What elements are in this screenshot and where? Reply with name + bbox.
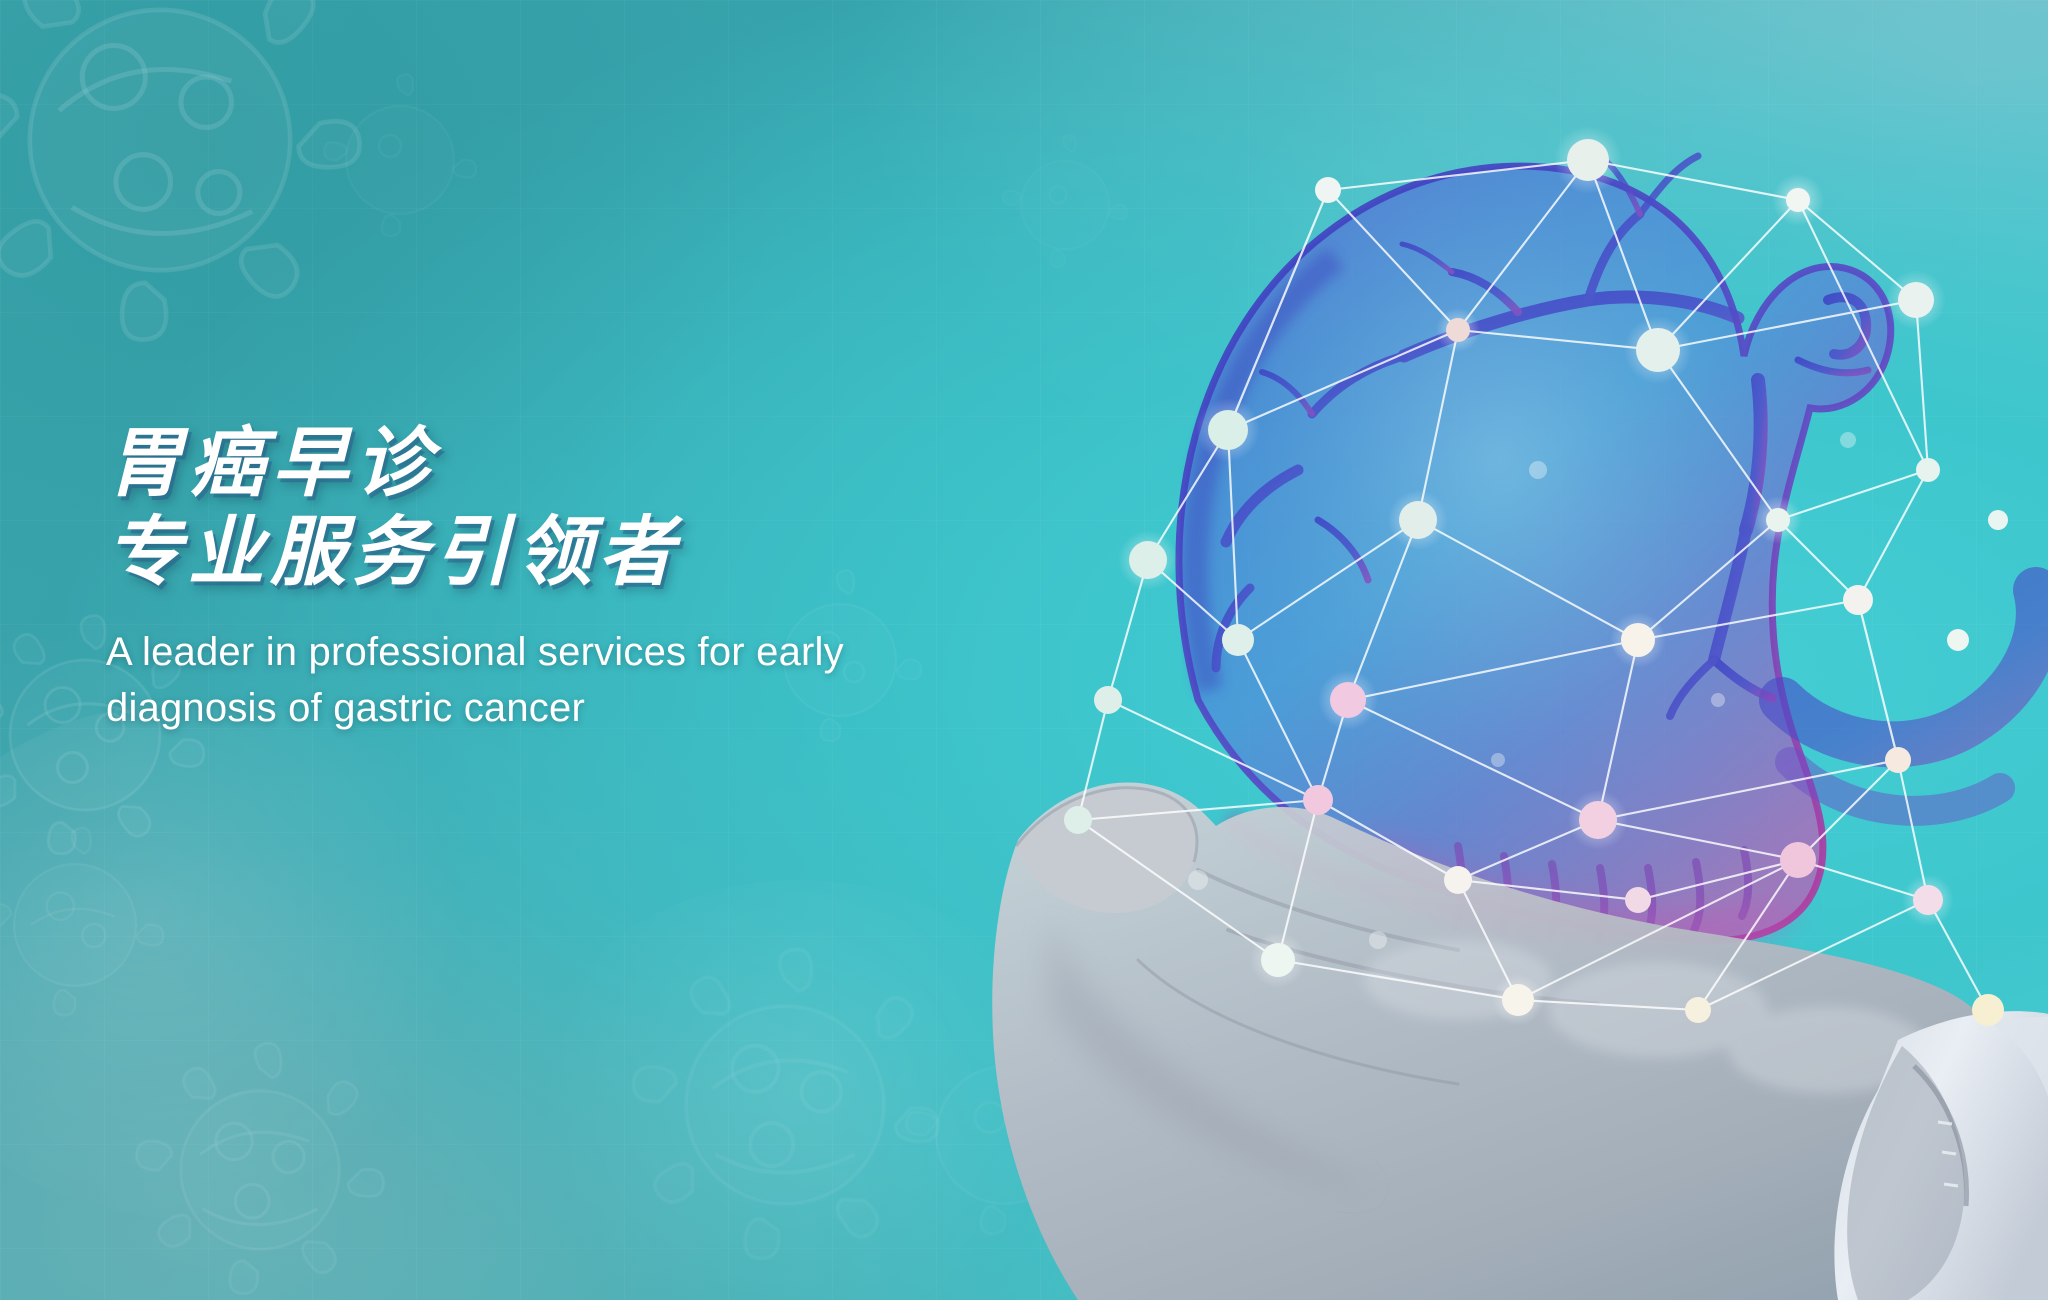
virus-icon <box>0 820 180 1030</box>
hero-banner: 胃癌早诊 专业服务引领者 A leader in professional se… <box>0 0 2048 1300</box>
headline-line-1: 胃癌早诊 <box>106 420 1106 509</box>
subtitle-line-2: diagnosis of gastric cancer <box>106 680 946 736</box>
headline-line-2: 专业服务引领者 <box>106 509 1106 598</box>
virus-icon <box>130 1040 390 1300</box>
hero-copy: 胃癌早诊 专业服务引领者 A leader in professional se… <box>106 420 1106 736</box>
virus-icon <box>300 60 500 260</box>
page-title: 胃癌早诊 专业服务引领者 <box>106 420 1106 598</box>
page-subtitle: A leader in professional services for ea… <box>106 624 946 736</box>
subtitle-line-1: A leader in professional services for ea… <box>106 624 946 680</box>
